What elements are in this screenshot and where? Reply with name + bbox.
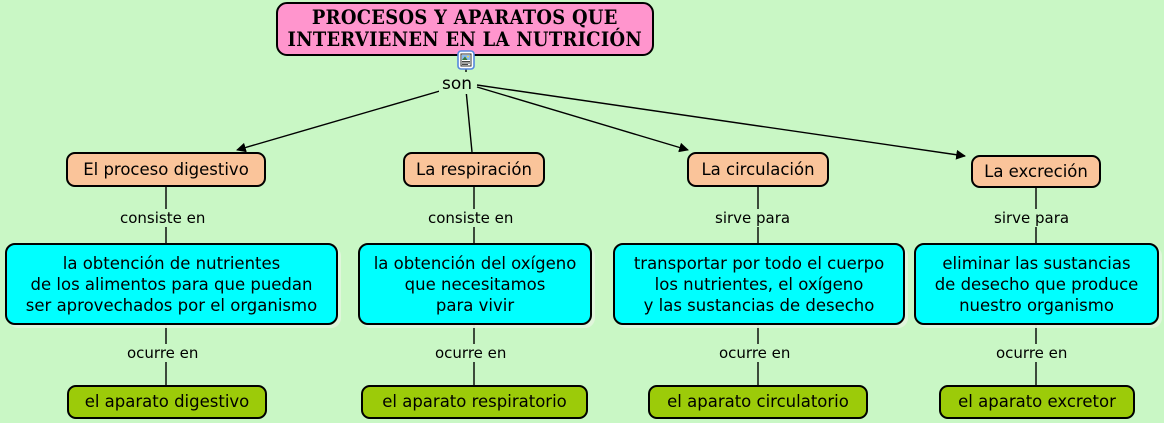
description-node-1-label: la obtención de nutrientes de los alimen… [7, 253, 336, 316]
description-node-4-label: eliminar las sustancias de desecho que p… [916, 253, 1157, 316]
process-node-3[interactable]: La circulación [687, 152, 829, 187]
organ-node-2-label: el aparato respiratorio [363, 393, 586, 411]
document-image-icon[interactable] [456, 50, 476, 70]
description-node-2-label: la obtención del oxígeno que necesitamos… [360, 253, 590, 316]
organ-node-3-label: el aparato circulatorio [650, 393, 866, 411]
description-node-1[interactable]: la obtención de nutrientes de los alimen… [5, 243, 338, 325]
description-node-2[interactable]: la obtención del oxígeno que necesitamos… [358, 243, 592, 325]
edge-label-3-sirve-para: sirve para [712, 209, 793, 227]
edge-label-son: son [439, 74, 475, 94]
organ-node-1-label: el aparato digestivo [69, 393, 265, 411]
description-node-3-label: transportar por todo el cuerpo los nutri… [615, 253, 903, 316]
organ-node-4[interactable]: el aparato excretor [939, 385, 1135, 419]
description-node-3[interactable]: transportar por todo el cuerpo los nutri… [613, 243, 905, 325]
edge-label-2-ocurre-en: ocurre en [432, 344, 509, 362]
edge-label-1-consiste-en: consiste en [117, 209, 208, 227]
process-node-3-label: La circulación [689, 161, 827, 179]
description-node-4[interactable]: eliminar las sustancias de desecho que p… [914, 243, 1159, 325]
edge-label-4-ocurre-en: ocurre en [993, 344, 1070, 362]
concept-map-canvas: PROCESOS Y APARATOS QUE INTERVIENEN EN L… [0, 0, 1164, 423]
organ-node-1[interactable]: el aparato digestivo [67, 385, 267, 419]
process-node-2[interactable]: La respiración [403, 152, 545, 187]
edge-label-3-ocurre-en: ocurre en [716, 344, 793, 362]
organ-node-2[interactable]: el aparato respiratorio [361, 385, 588, 419]
process-node-4-label: La excreción [973, 163, 1099, 181]
process-node-1[interactable]: El proceso digestivo [66, 152, 266, 187]
page-title: PROCESOS Y APARATOS QUE INTERVIENEN EN L… [288, 7, 643, 51]
edge-label-1-ocurre-en: ocurre en [124, 344, 201, 362]
process-node-2-label: La respiración [405, 161, 543, 179]
edge-label-4-sirve-para: sirve para [991, 209, 1072, 227]
organ-node-4-label: el aparato excretor [941, 393, 1133, 411]
edge-label-2-consiste-en: consiste en [425, 209, 516, 227]
organ-node-3[interactable]: el aparato circulatorio [648, 385, 868, 419]
map-title-node[interactable]: PROCESOS Y APARATOS QUE INTERVIENEN EN L… [276, 2, 654, 56]
process-node-4[interactable]: La excreción [971, 155, 1101, 188]
process-node-1-label: El proceso digestivo [68, 161, 264, 179]
